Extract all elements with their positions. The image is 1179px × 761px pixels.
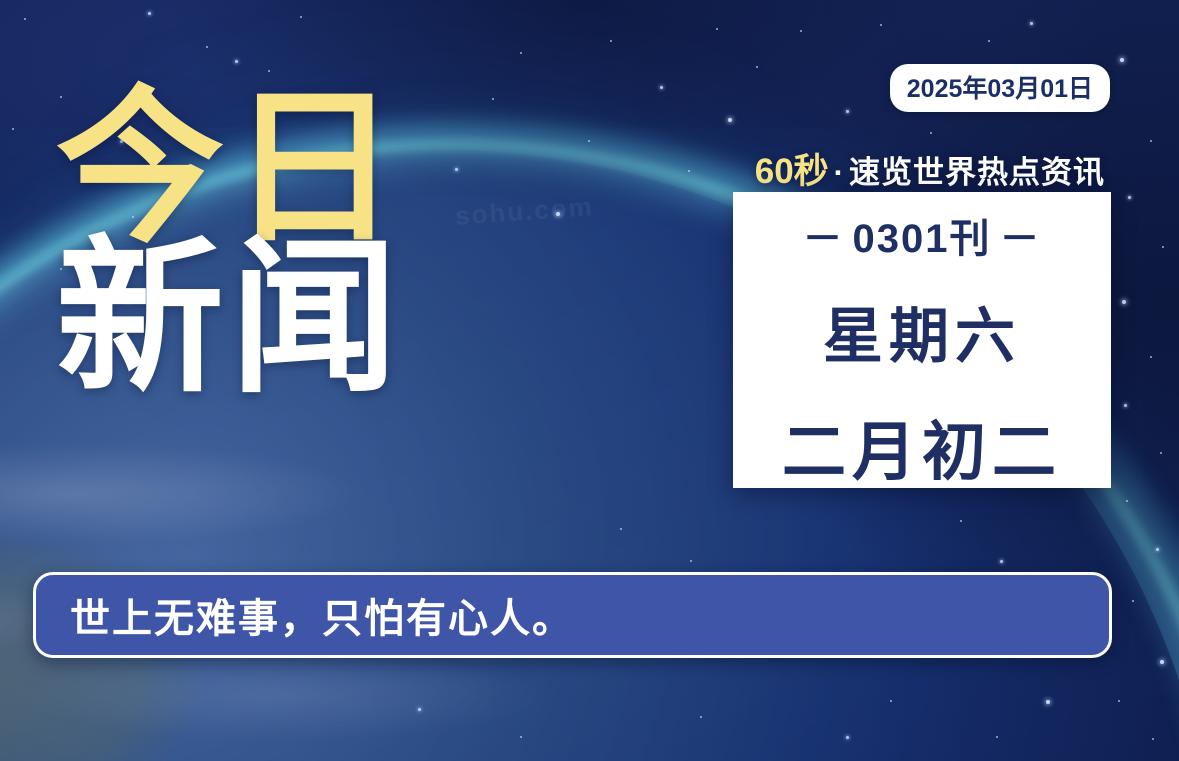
title-line-jinri: 今日: [56, 96, 404, 240]
tagline-text: 速览世界热点资讯: [849, 155, 1105, 190]
lunar-date-label: 二月初二: [782, 401, 1062, 493]
title-line-xinwen: 新闻: [56, 246, 404, 390]
tagline: 60秒·速览世界热点资讯: [755, 143, 1105, 194]
issue-number: 0301刊: [853, 217, 992, 261]
date-info-card: －0301刊－ 星期六 二月初二: [733, 192, 1111, 488]
quote-text: 世上无难事，只怕有心人。: [36, 586, 574, 644]
tagline-seconds: 60秒: [755, 152, 829, 191]
issue-dash-left: －: [795, 217, 853, 261]
quote-banner: 世上无难事，只怕有心人。: [33, 572, 1112, 658]
tagline-separator: ·: [829, 155, 849, 190]
weekday-label: 星期六: [823, 288, 1021, 375]
issue-dash-right: －: [991, 217, 1049, 261]
date-badge: 2025年03月01日: [890, 64, 1110, 112]
news-poster: sohu.com 2025年03月01日 60秒·速览世界热点资讯 今日 新闻 …: [0, 0, 1179, 761]
poster-title: 今日 新闻: [56, 96, 404, 391]
issue-line: －0301刊－: [795, 206, 1050, 264]
